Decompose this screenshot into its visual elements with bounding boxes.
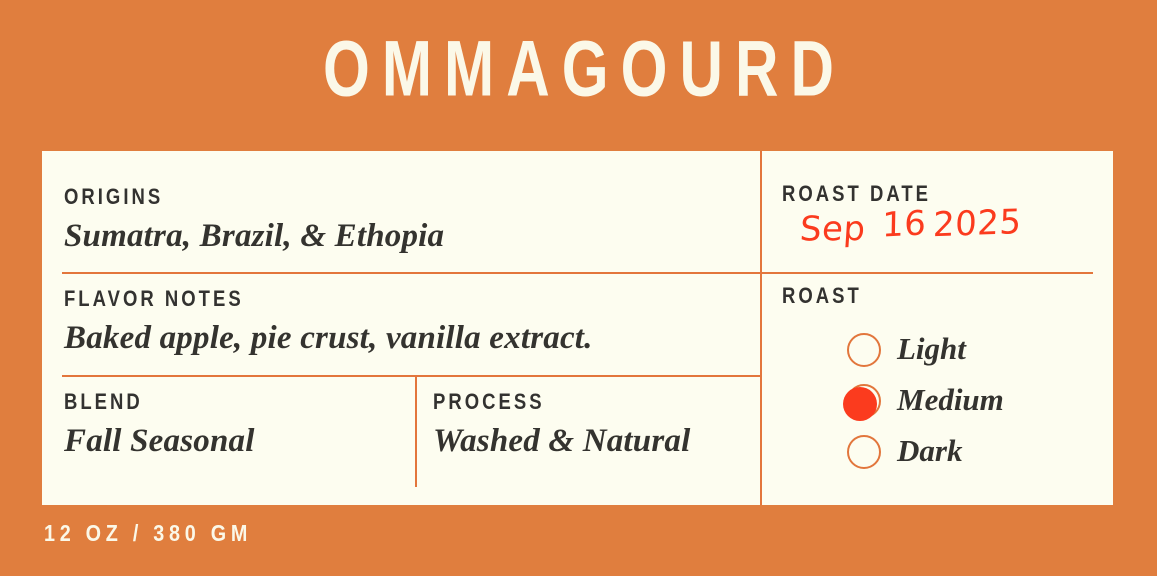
roast-label: ROAST	[782, 283, 862, 309]
roast-option-medium-label: Medium	[897, 382, 1004, 418]
radio-circle-icon[interactable]	[845, 433, 881, 469]
net-weight: 12 OZ / 380 GM	[44, 519, 252, 547]
radio-circle-icon[interactable]	[845, 331, 881, 367]
page-title: OMMAGOURD	[81, 24, 1076, 114]
flavor-notes-label: FLAVOR NOTES	[64, 286, 508, 312]
radio-ring-icon	[847, 435, 881, 469]
roast-option-medium[interactable]: Medium	[845, 374, 1004, 425]
field-roast: ROAST	[782, 283, 877, 309]
blend-value: Fall Seasonal	[64, 421, 255, 461]
radio-circle-icon[interactable]	[845, 382, 881, 418]
roast-option-light[interactable]: Light	[845, 323, 1004, 374]
radio-fill-icon	[843, 387, 877, 421]
divider-roastdate-roast	[760, 272, 1093, 274]
roast-option-dark-label: Dark	[897, 433, 962, 469]
field-roast-date: ROAST DATE Sep162025	[782, 181, 1021, 251]
roast-date-year: 2025	[932, 201, 1022, 246]
roast-date-value: Sep162025	[799, 204, 1022, 251]
roast-date-month: Sep	[799, 208, 867, 250]
flavor-notes-value: Baked apple, pie crust, vanilla extract.	[64, 318, 593, 358]
roast-option-dark[interactable]: Dark	[845, 425, 1004, 476]
roast-radio-group[interactable]: Light Medium Dark	[845, 323, 1004, 476]
field-blend: BLEND Fall Seasonal	[64, 389, 255, 461]
divider-origins-flavor	[62, 272, 760, 274]
divider-blend-process	[415, 375, 417, 487]
roast-option-light-label: Light	[897, 331, 966, 367]
field-process: PROCESS Washed & Natural	[433, 389, 690, 461]
radio-ring-icon	[847, 333, 881, 367]
spec-card: ORIGINS Sumatra, Brazil, & Ethopia FLAVO…	[42, 151, 1113, 505]
blend-label: BLEND	[64, 389, 224, 415]
field-flavor-notes: FLAVOR NOTES Baked apple, pie crust, van…	[64, 286, 593, 358]
coffee-label: OMMAGOURD ORIGINS Sumatra, Brazil, & Eth…	[0, 0, 1157, 576]
process-label: PROCESS	[433, 389, 649, 415]
divider-left-right	[760, 151, 762, 505]
roast-date-day: 16	[881, 202, 926, 246]
divider-flavor-blend	[62, 375, 760, 377]
right-column: ROAST DATE Sep162025 ROAST Light	[760, 151, 1113, 505]
left-column: ORIGINS Sumatra, Brazil, & Ethopia FLAVO…	[42, 151, 760, 505]
origins-value: Sumatra, Brazil, & Ethopia	[64, 216, 444, 256]
process-value: Washed & Natural	[433, 421, 690, 461]
origins-label: ORIGINS	[64, 184, 383, 210]
field-origins: ORIGINS Sumatra, Brazil, & Ethopia	[64, 184, 444, 256]
